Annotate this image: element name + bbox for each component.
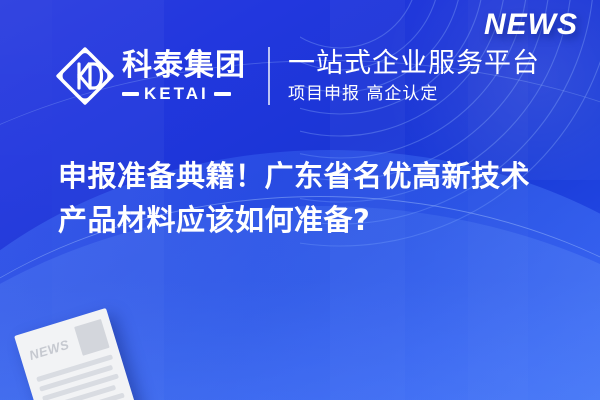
brand-wordmark: 科泰集团 KETAI — [122, 50, 246, 103]
newspaper-thumbnail-placeholder — [74, 319, 110, 356]
slogan-secondary: 项目申报 高企认定 — [288, 85, 540, 104]
brand-header: 科泰集团 KETAI 一站式企业服务平台 项目申报 高企认定 — [54, 42, 540, 110]
newspaper-masthead: NEWS — [25, 329, 75, 363]
brand-name-cn: 科泰集团 — [122, 50, 246, 82]
dash-left-icon — [122, 92, 139, 96]
article-headline: 申报准备典籍！广东省名优高新技术产品材料应该如何准备? — [58, 154, 558, 242]
news-banner: NEWS 科泰集团 KETAI 一站式企业服务平台 项目申报 高企 — [0, 0, 600, 400]
ketai-logo-icon — [54, 45, 116, 107]
news-badge: NEWS — [484, 8, 578, 42]
brand-name-en-row: KETAI — [122, 85, 246, 102]
vertical-divider — [268, 47, 270, 105]
brand-name-en: KETAI — [144, 85, 209, 102]
slogan-primary: 一站式企业服务平台 — [288, 49, 540, 79]
slogan-block: 一站式企业服务平台 项目申报 高企认定 — [288, 49, 540, 103]
dash-right-icon — [214, 92, 231, 96]
newspaper-illustration: NEWS — [14, 308, 140, 400]
